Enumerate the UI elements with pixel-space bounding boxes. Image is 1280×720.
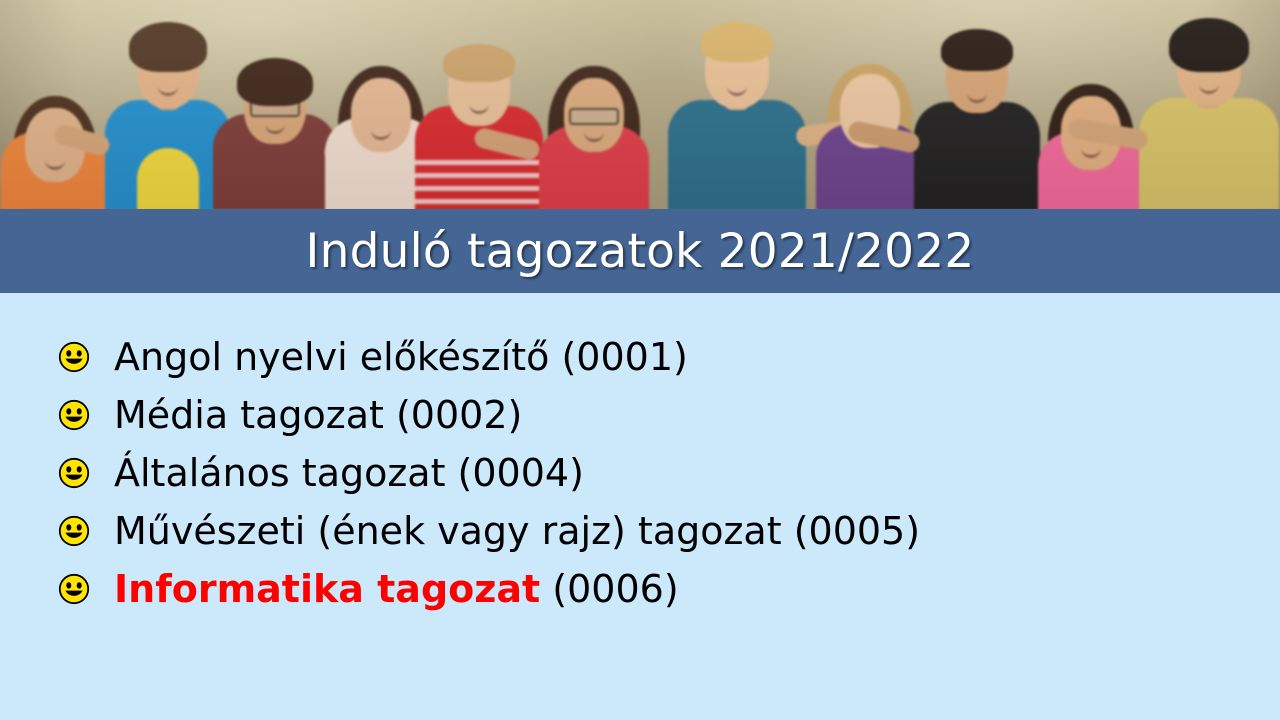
slide-title: Induló tagozatok 2021/2022 bbox=[306, 228, 975, 275]
photo-person-smile bbox=[727, 84, 747, 96]
photo-person-smile bbox=[45, 158, 65, 170]
smiley-face-icon bbox=[58, 573, 90, 605]
photo-person-smile bbox=[1081, 146, 1101, 158]
list-item-label: Média tagozat (0002) bbox=[114, 396, 522, 434]
smiley-face-icon bbox=[58, 457, 90, 489]
list-item[interactable]: Művészeti (ének vagy rajz) tagozat (0005… bbox=[58, 502, 920, 560]
photo-person-head bbox=[351, 78, 411, 152]
photo-person-hair bbox=[237, 58, 313, 106]
presentation-slide: Induló tagozatok 2021/2022 Angol nyelvi … bbox=[0, 0, 1280, 720]
smiley-face-icon bbox=[58, 399, 90, 431]
photo-person-hair bbox=[129, 22, 207, 72]
smiley-face-icon bbox=[58, 341, 90, 373]
photo-person-smile bbox=[265, 122, 285, 134]
list-item-code-value: (0006) bbox=[552, 567, 678, 611]
tagozat-list: Angol nyelvi előkészítő (0001) Média tag… bbox=[58, 328, 920, 618]
list-item[interactable]: Általános tagozat (0004) bbox=[58, 444, 920, 502]
photo-person-hair bbox=[701, 22, 773, 62]
photo-person-smile bbox=[584, 130, 604, 142]
photo-person-smile bbox=[371, 128, 391, 140]
photo-person-11 bbox=[1124, 10, 1280, 210]
photo-person-hair bbox=[1169, 18, 1249, 72]
photo-tshirt-print bbox=[137, 148, 199, 210]
list-item[interactable]: Média tagozat (0002) bbox=[58, 386, 920, 444]
photo-person-head bbox=[564, 78, 624, 152]
photo-person-torso bbox=[1139, 98, 1279, 210]
photo-person-hair bbox=[443, 44, 515, 82]
photo-person-glasses bbox=[569, 108, 619, 125]
list-item-label: Informatika tagozat (0006) bbox=[114, 570, 679, 608]
slide-content-area: Angol nyelvi előkészítő (0001) Média tag… bbox=[0, 293, 1280, 720]
slide-title-bar: Induló tagozatok 2021/2022 bbox=[0, 209, 1280, 293]
list-item-code bbox=[540, 567, 552, 611]
photo-person-smile bbox=[967, 91, 987, 103]
list-item-label: Művészeti (ének vagy rajz) tagozat (0005… bbox=[114, 512, 920, 550]
photo-people-layer bbox=[0, 0, 1280, 210]
list-item-label: Angol nyelvi előkészítő (0001) bbox=[114, 338, 688, 376]
photo-person-smile bbox=[469, 102, 489, 114]
photo-person-torso bbox=[668, 100, 806, 210]
list-item[interactable]: Angol nyelvi előkészítő (0001) bbox=[58, 328, 920, 386]
photo-person-smile bbox=[1199, 82, 1219, 94]
list-item-label: Általános tagozat (0004) bbox=[114, 454, 584, 492]
smiley-face-icon bbox=[58, 515, 90, 547]
photo-person-hair bbox=[941, 29, 1013, 71]
photo-person-6 bbox=[516, 30, 672, 210]
group-photo-banner bbox=[0, 0, 1280, 210]
photo-person-smile bbox=[158, 84, 178, 96]
list-item[interactable]: Informatika tagozat (0006) bbox=[58, 560, 920, 618]
list-item-highlight: Informatika tagozat bbox=[114, 567, 540, 611]
